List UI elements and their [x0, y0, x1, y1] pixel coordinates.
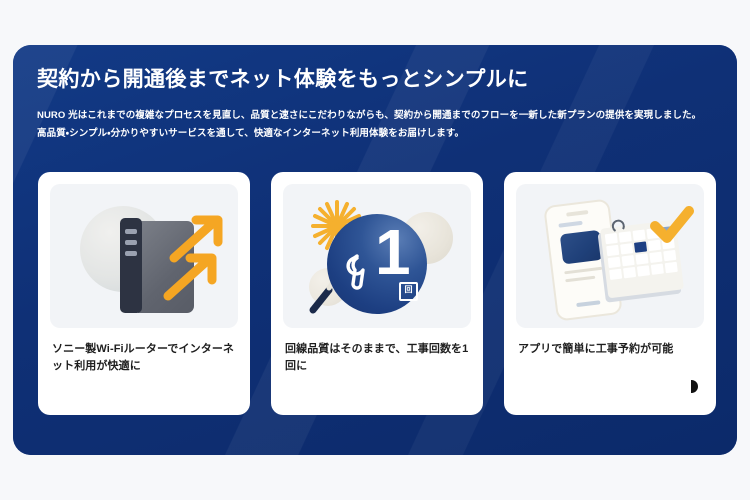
- feature-card-list: ソニー製Wi-Fiルーターでインターネット利用が快適に: [38, 172, 716, 415]
- hero-description-line-2: 高品質・シンプル・分かりやすいサービスを通して、快適なインターネット利用体験をお…: [37, 125, 713, 143]
- card-title: アプリで簡単に工事予約が可能: [518, 341, 702, 358]
- badge-number: 1: [375, 220, 411, 284]
- speed-arrow-icon: [162, 250, 224, 302]
- phone-content-line: [564, 267, 602, 275]
- checkmark-icon: [650, 206, 694, 246]
- phone-content-line: [565, 276, 595, 283]
- card-title: ソニー製Wi-Fiルーターでインターネット利用が快適に: [52, 341, 236, 375]
- calendar-cell: [620, 243, 633, 254]
- phone-home-indicator: [576, 300, 600, 307]
- calendar-cell: [633, 229, 646, 240]
- router-led-icon: [125, 240, 137, 245]
- card-figure-app-reservation: [516, 184, 704, 328]
- calendar-cell: [605, 233, 618, 244]
- card-figure-one-time-construction: 1 回: [283, 184, 471, 328]
- calendar-cell: [635, 253, 648, 264]
- calendar-cell: [623, 267, 636, 278]
- wrench-icon: [335, 254, 369, 292]
- phone-content-bar: [558, 221, 582, 228]
- calendar-cell: [651, 264, 664, 275]
- feature-card-one-time-construction[interactable]: 1 回 回線品質はそのままで、工事回数を1回に: [271, 172, 483, 415]
- calendar-cell: [609, 269, 622, 280]
- card-title: 回線品質はそのままで、工事回数を1回に: [285, 341, 469, 375]
- router-led-icon: [125, 251, 137, 256]
- calendar-cell: [608, 257, 621, 268]
- badge-unit: 回: [399, 282, 418, 301]
- hero-description-line-1: NURO 光はこれまでの複雑なプロセスを見直し、品質と速さにこだわりながらも、契…: [37, 107, 713, 125]
- calendar-cell: [665, 262, 678, 273]
- router-led-icon: [125, 229, 137, 234]
- calendar-cell: [606, 245, 619, 256]
- calendar-cell: [622, 255, 635, 266]
- calendar-cell-selected: [634, 241, 647, 252]
- calendar-cell: [619, 231, 632, 242]
- phone-notch: [566, 210, 588, 217]
- card-figure-wifi-router: [50, 184, 238, 328]
- feature-card-wifi-router[interactable]: ソニー製Wi-Fiルーターでインターネット利用が快適に: [38, 172, 250, 415]
- phone-screen-image: [560, 230, 603, 265]
- page-title: 契約から開通後までネット体験をもっとシンプルに: [37, 67, 713, 93]
- hero-content: 契約から開通後までネット体験をもっとシンプルに NURO 光はこれまでの複雑なプ…: [13, 45, 737, 142]
- hero-panel: 契約から開通後までネット体験をもっとシンプルに NURO 光はこれまでの複雑なプ…: [13, 45, 737, 455]
- calendar-cell: [663, 250, 676, 261]
- feature-card-app-reservation[interactable]: アプリで簡単に工事予約が可能: [504, 172, 716, 415]
- mouse-cursor: [691, 380, 698, 393]
- calendar-cell: [637, 265, 650, 276]
- hero-description: NURO 光はこれまでの複雑なプロセスを見直し、品質と速さにこだわりながらも、契…: [37, 107, 713, 142]
- calendar-cell: [649, 252, 662, 263]
